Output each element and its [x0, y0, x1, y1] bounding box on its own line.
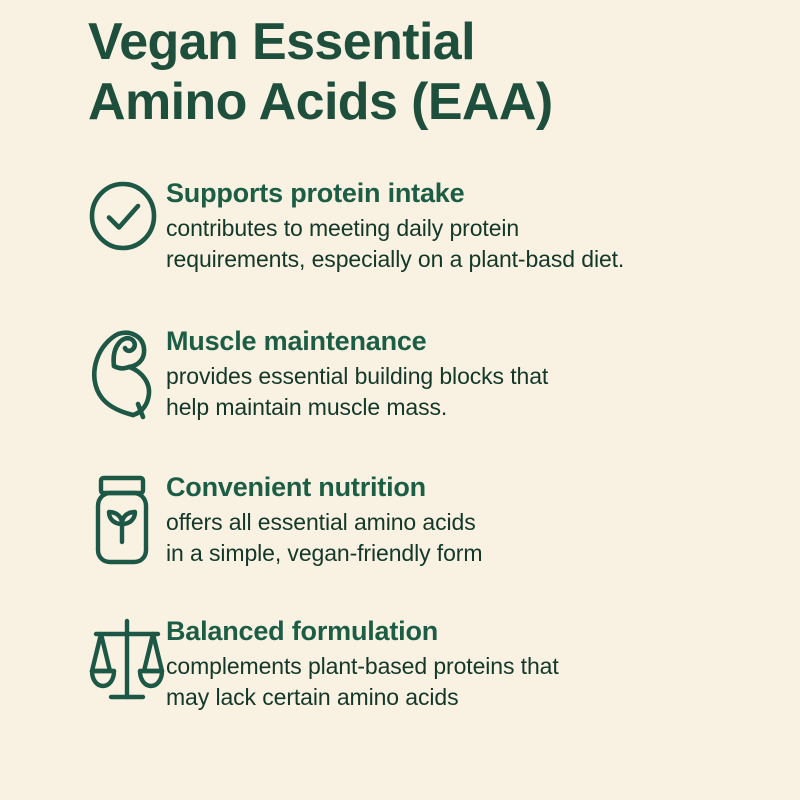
page-title-line-2: Amino Acids (EAA) — [88, 72, 768, 132]
benefit-description-line: offers all essential amino acids — [166, 507, 776, 538]
benefit-text: Muscle maintenance provides essential bu… — [166, 324, 776, 422]
benefit-description-line: in a simple, vegan-friendly form — [166, 538, 776, 569]
benefit-text: Convenient nutrition offers all essentia… — [166, 470, 776, 568]
benefit-item-convenient-nutrition: Convenient nutrition offers all essentia… — [0, 470, 800, 588]
product-benefits-poster: Vegan Essential Amino Acids (EAA) Suppor… — [0, 0, 800, 800]
benefit-description-line: requirements, especially on a plant-basd… — [166, 244, 776, 275]
flexed-bicep-icon — [88, 324, 166, 410]
benefit-text: Supports protein intake contributes to m… — [166, 176, 776, 274]
benefit-heading: Balanced formulation — [166, 616, 776, 648]
benefit-description: offers all essential amino acids in a si… — [166, 507, 776, 569]
balance-scales-icon — [88, 614, 166, 700]
benefit-description-line: may lack certain amino acids — [166, 682, 776, 713]
benefit-item-muscle-maintenance: Muscle maintenance provides essential bu… — [0, 324, 800, 442]
supplement-jar-sprout-icon — [88, 470, 166, 556]
benefit-list: Supports protein intake contributes to m… — [0, 176, 800, 732]
benefit-text: Balanced formulation complements plant-b… — [166, 614, 776, 712]
benefit-heading: Supports protein intake — [166, 178, 776, 210]
benefit-description-line: contributes to meeting daily protein — [166, 213, 776, 244]
page-title: Vegan Essential Amino Acids (EAA) — [88, 12, 768, 133]
benefit-description: complements plant-based proteins that ma… — [166, 651, 776, 713]
benefit-description-line: provides essential building blocks that — [166, 361, 776, 392]
benefit-description: contributes to meeting daily protein req… — [166, 213, 776, 275]
benefit-heading: Convenient nutrition — [166, 472, 776, 504]
page-title-line-1: Vegan Essential — [88, 12, 768, 72]
benefit-item-supports-protein-intake: Supports protein intake contributes to m… — [0, 176, 800, 294]
benefit-description: provides essential building blocks that … — [166, 361, 776, 423]
benefit-item-balanced-formulation: Balanced formulation complements plant-b… — [0, 614, 800, 732]
benefit-description-line: help maintain muscle mass. — [166, 392, 776, 423]
check-circle-icon — [88, 176, 166, 262]
benefit-description-line: complements plant-based proteins that — [166, 651, 776, 682]
benefit-heading: Muscle maintenance — [166, 326, 776, 358]
